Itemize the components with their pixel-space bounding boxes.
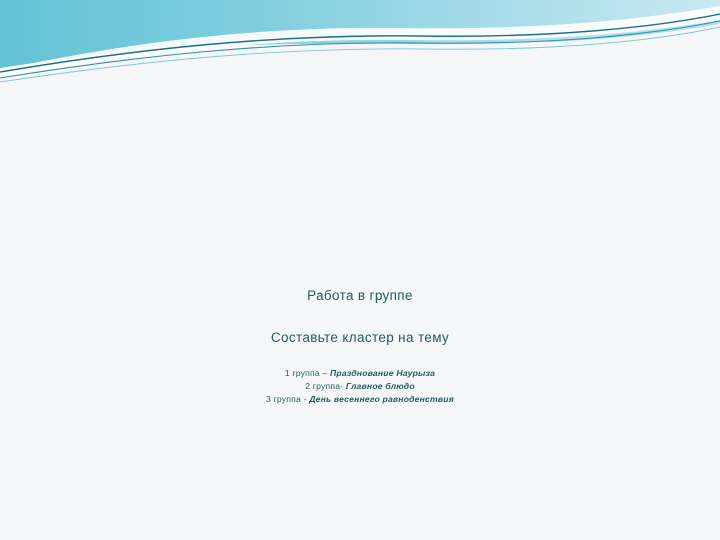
group-assignment-2: 2 группа- Главное блюдо bbox=[0, 381, 720, 391]
group-assignment-1: 1 группа – Празднование Наурыза bbox=[0, 368, 720, 378]
group-topic-1: Празднование Наурыза bbox=[330, 368, 435, 378]
group-topic-3: День весеннего равноденствия bbox=[309, 394, 454, 404]
slide-content: Работа в группе Составьте кластер на тем… bbox=[0, 0, 720, 540]
group-label-2: 2 группа- bbox=[305, 381, 343, 391]
group-assignment-3: 3 группа - День весеннего равноденствия bbox=[0, 394, 720, 404]
group-label-3: 3 группа - bbox=[266, 394, 307, 404]
heading-secondary: Составьте кластер на тему bbox=[0, 330, 720, 345]
group-topic-2: Главное блюдо bbox=[346, 381, 415, 391]
heading-primary: Работа в группе bbox=[0, 288, 720, 303]
group-label-1: 1 группа – bbox=[285, 368, 328, 378]
presentation-slide: Работа в группе Составьте кластер на тем… bbox=[0, 0, 720, 540]
